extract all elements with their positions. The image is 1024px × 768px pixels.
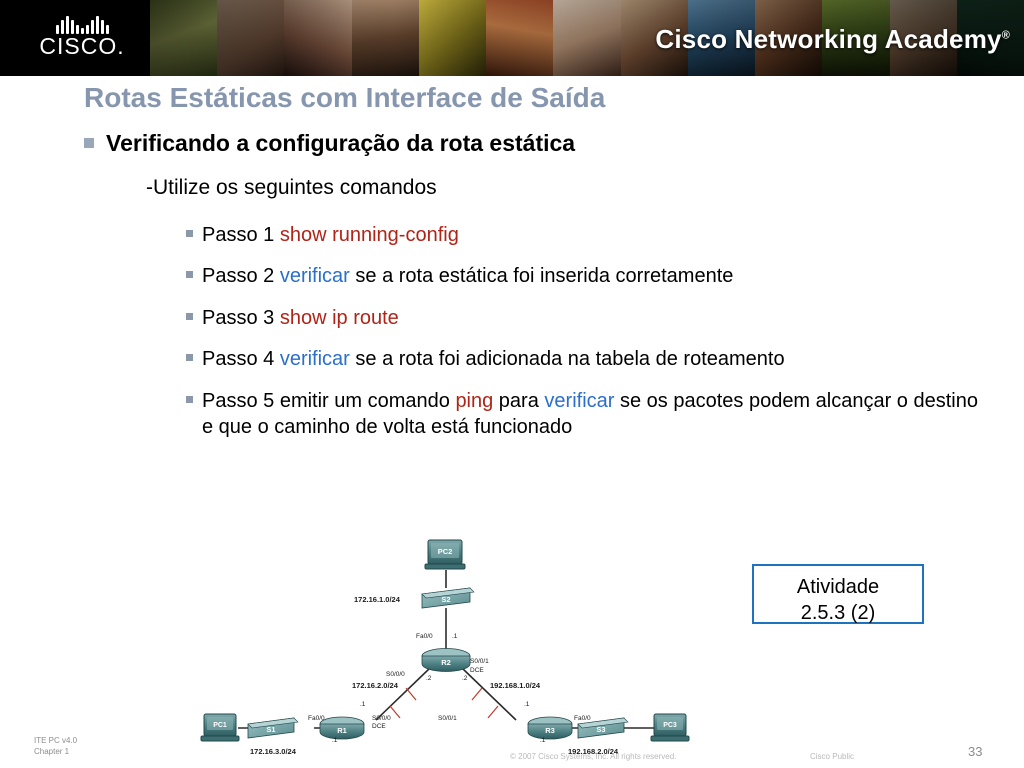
- cisco-wordmark: CISCO: [39, 33, 117, 59]
- step-keyword: show running-config: [280, 224, 459, 246]
- footer-copyright: © 2007 Cisco Systems, Inc. All rights re…: [510, 752, 676, 761]
- device-label-pc2: PC2: [438, 547, 453, 556]
- step-text-part: se a rota estática foi inserida corretam…: [350, 265, 734, 287]
- list-item: Passo 2 verificar se a rota estática foi…: [186, 263, 986, 289]
- device-label-pc3: PC3: [663, 722, 677, 729]
- interface-label: DCE: [372, 723, 386, 730]
- topology-serial-marks: [390, 688, 498, 718]
- bullet-level1-label: Verificando a configuração da rota estát…: [106, 130, 575, 156]
- interface-label: .1: [540, 737, 546, 744]
- network-label: 172.16.3.0/24: [250, 747, 297, 756]
- step-list: Passo 1 show running-config Passo 2 veri…: [186, 222, 986, 455]
- device-label-r1: R1: [337, 726, 347, 735]
- step-keyword: verificar: [280, 265, 350, 287]
- list-item: Passo 5 emitir um comando ping para veri…: [186, 388, 986, 441]
- device-pc3: PC3: [651, 714, 689, 741]
- list-item: Passo 3 show ip route: [186, 305, 986, 331]
- footer-chapter: Chapter 1: [34, 747, 77, 758]
- interface-label: .1: [332, 737, 338, 744]
- interface-label: .2: [426, 675, 432, 682]
- device-r2: R2: [422, 649, 470, 672]
- network-label: 192.168.1.0/24: [490, 681, 541, 690]
- link-r2-r3: [462, 668, 516, 720]
- interface-label: DCE: [470, 667, 484, 674]
- step-keyword: verificar: [280, 348, 350, 370]
- device-label-s3: S3: [596, 725, 605, 734]
- interface-label: .1: [360, 701, 366, 708]
- bullet-level2: -Utilize os seguintes comandos: [146, 176, 1006, 200]
- footer-classification: Cisco Public: [810, 752, 854, 761]
- device-label-r3: R3: [545, 726, 555, 735]
- academy-title: Cisco Networking Academy®: [655, 24, 1010, 55]
- step-text-part: Passo 4: [202, 348, 280, 370]
- network-label: 172.16.1.0/24: [354, 595, 401, 604]
- activity-callout: Atividade 2.5.3 (2): [752, 564, 924, 624]
- list-item: Passo 1 show running-config: [186, 222, 986, 248]
- device-r1: R1: [320, 717, 364, 739]
- step-keyword: ping: [455, 390, 493, 412]
- device-r3: R3: [528, 717, 572, 739]
- step-text-part: para: [493, 390, 544, 412]
- academy-trademark: ®: [1002, 29, 1010, 41]
- cisco-logo: CISCO.: [22, 14, 142, 58]
- list-item: Passo 4 verificar se a rota foi adiciona…: [186, 346, 986, 372]
- activity-line1: Atividade: [754, 574, 922, 600]
- interface-label: .1: [452, 633, 458, 640]
- step-text-part: Passo 3: [202, 307, 280, 329]
- cisco-wordmark-dot: .: [117, 33, 124, 59]
- network-label: 172.16.2.0/24: [352, 681, 399, 690]
- device-label-pc1: PC1: [213, 722, 227, 729]
- footer-course-info: ITE PC v4.0 Chapter 1: [34, 736, 77, 758]
- cisco-bridge-icon: [22, 14, 142, 34]
- device-pc1: PC1: [201, 714, 239, 741]
- footer-course: ITE PC v4.0: [34, 736, 77, 747]
- activity-line2: 2.5.3 (2): [754, 600, 922, 626]
- interface-label: S0/0/1: [470, 658, 489, 665]
- bullet-level1: Verificando a configuração da rota estát…: [84, 130, 984, 157]
- device-s2: S2: [422, 588, 474, 608]
- step-text-part: Passo 2: [202, 265, 280, 287]
- device-label-r2: R2: [441, 658, 451, 667]
- bullet-square-icon: [186, 396, 193, 403]
- bullet-square-icon: [186, 230, 193, 237]
- step-text-part: Passo 5 emitir um comando: [202, 390, 455, 412]
- bullet-square-icon: [186, 313, 193, 320]
- step-keyword: show ip route: [280, 307, 399, 329]
- bullet-square-icon: [186, 354, 193, 361]
- bullet-square-icon: [84, 138, 94, 148]
- interface-label: S0/0/1: [438, 715, 457, 722]
- step-text-part: se a rota foi adicionada na tabela de ro…: [350, 348, 785, 370]
- interface-label: S0/0/0: [386, 671, 405, 678]
- device-label-s2: S2: [441, 595, 450, 604]
- step-text-part: Passo 1: [202, 224, 280, 246]
- interface-label: Fa0/0: [308, 715, 325, 722]
- network-topology-diagram: PC2 S2 R2 PC1 S1 R1 R3 S3: [180, 528, 700, 758]
- page-title: Rotas Estáticas com Interface de Saída: [84, 82, 964, 114]
- header-banner: CISCO. Cisco Networking Academy®: [0, 0, 1024, 76]
- device-s1: S1: [248, 718, 298, 738]
- device-label-s1: S1: [266, 725, 275, 734]
- interface-label: .1: [524, 701, 530, 708]
- interface-label: .2: [462, 675, 468, 682]
- interface-label: S0/0/0: [372, 715, 391, 722]
- device-pc2: PC2: [425, 540, 465, 569]
- footer-page-number: 33: [968, 744, 982, 759]
- interface-label: Fa0/0: [416, 633, 433, 640]
- interface-label: Fa0/0: [574, 715, 591, 722]
- bullet-square-icon: [186, 271, 193, 278]
- step-keyword: verificar: [544, 390, 614, 412]
